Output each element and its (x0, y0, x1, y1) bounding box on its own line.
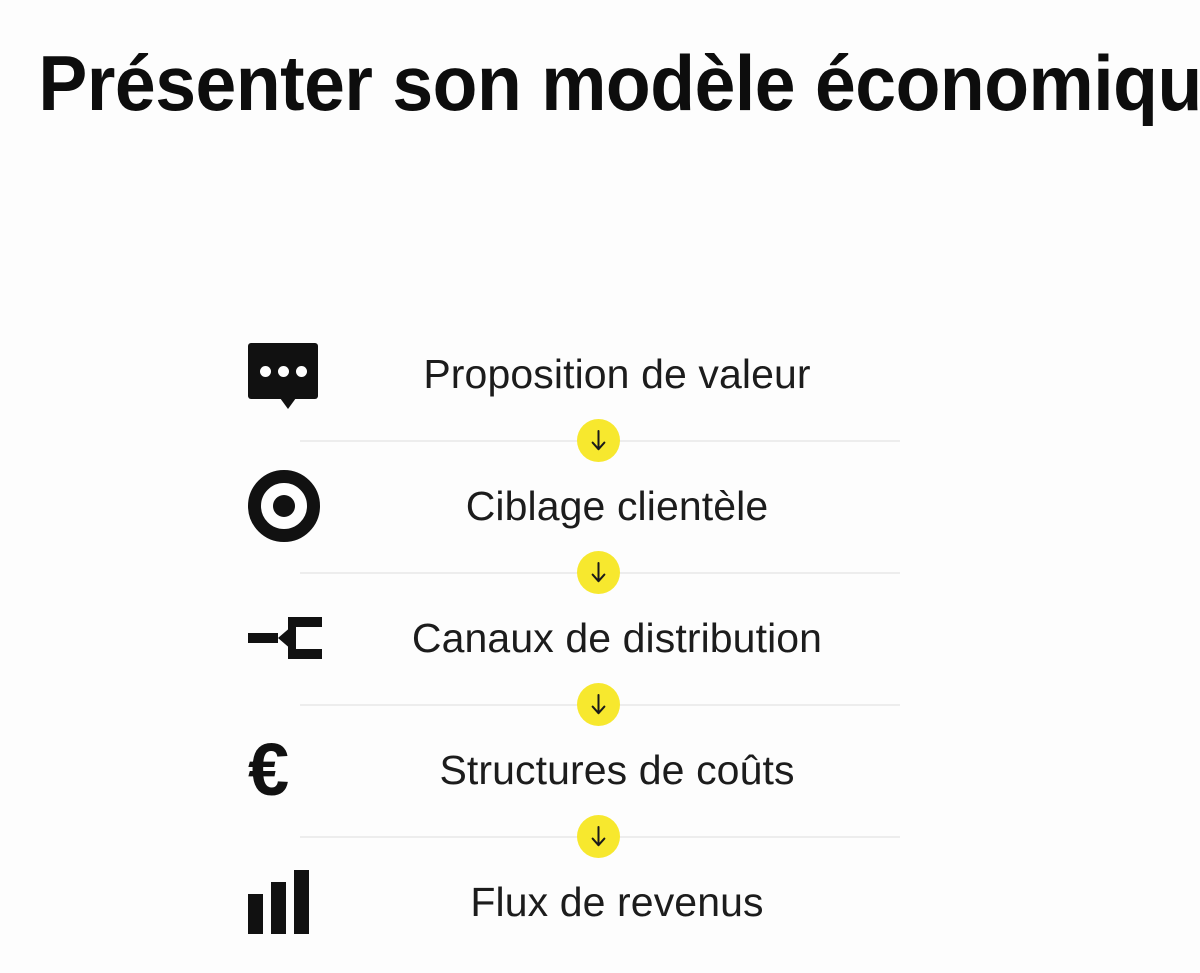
step-label: Structures de coûts (439, 747, 794, 794)
slide-canvas: Présenter son modèle économique Proposit… (0, 0, 1200, 973)
step-label-cell: Proposition de valeur (334, 308, 900, 440)
list-item[interactable]: Flux de revenus (0, 836, 1200, 968)
business-model-steps-list: Proposition de valeur (0, 308, 1200, 968)
euro-sign-icon: € (248, 733, 288, 807)
step-icon-cell (248, 440, 334, 572)
bar-chart-icon (248, 870, 309, 934)
step-icon-cell (248, 836, 334, 968)
step-label-cell: Structures de coûts (334, 704, 900, 836)
step-label-cell: Canaux de distribution (334, 572, 900, 704)
speech-bubble-dots-icon (248, 343, 318, 405)
target-bullseye-icon (248, 470, 320, 542)
step-icon-cell: € (248, 704, 334, 836)
page-title: Présenter son modèle économique (38, 44, 1200, 122)
step-label: Ciblage clientèle (466, 483, 769, 530)
step-label: Flux de revenus (470, 879, 763, 926)
distribution-branch-icon (248, 609, 326, 667)
step-label: Proposition de valeur (423, 351, 810, 398)
page-title-container: Présenter son modèle économique (0, 44, 1200, 122)
step-label: Canaux de distribution (412, 615, 822, 662)
step-label-cell: Ciblage clientèle (334, 440, 900, 572)
step-icon-cell (248, 572, 334, 704)
step-icon-cell (248, 308, 334, 440)
step-label-cell: Flux de revenus (334, 836, 900, 968)
